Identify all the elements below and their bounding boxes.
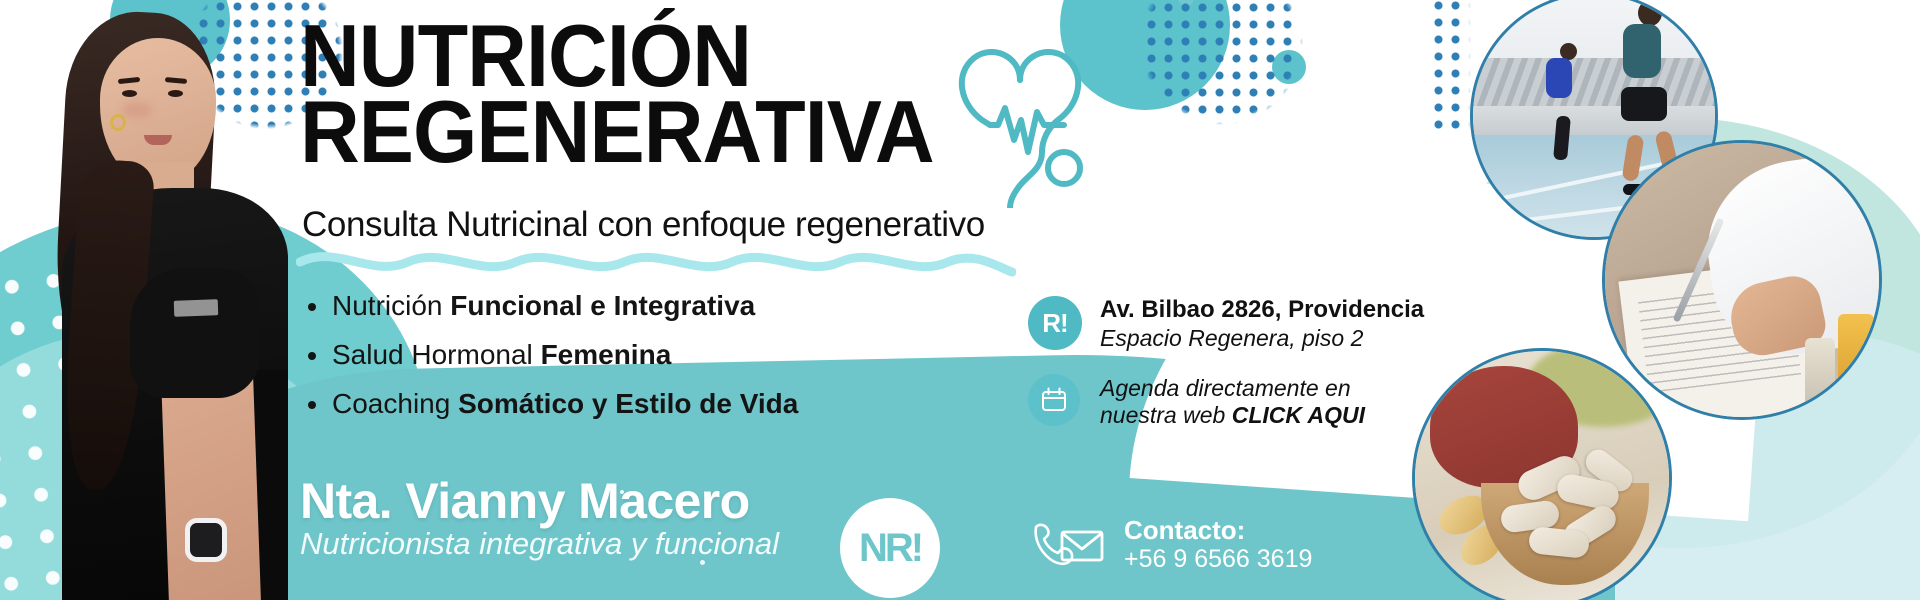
practitioner-name: Nta. Vianny Macero (300, 472, 779, 530)
headline-subtitle: Consulta Nutricinal con enfoque regenera… (302, 205, 985, 245)
booking-line-2[interactable]: nuestra web CLICK AQUI (1100, 402, 1365, 429)
pin-label: R! (1028, 296, 1082, 350)
service-bold-text: Somático y Estilo de Vida (458, 388, 798, 419)
click-here-link[interactable]: CLICK AQUI (1232, 402, 1365, 428)
booking-plain: nuestra web (1100, 402, 1232, 428)
service-plain-text: Nutrición (332, 290, 450, 321)
calendar-icon (1028, 374, 1084, 430)
contact-label: Contacto: (1124, 516, 1312, 545)
wavy-underline-decor (296, 246, 1016, 280)
list-item: Nutrición Funcional e Integrativa (300, 290, 920, 322)
logo-mark: NR! (859, 526, 921, 571)
heart-stethoscope-icon (930, 28, 1110, 208)
nutritionist-portrait (18, 10, 288, 600)
page-title: NUTRICIÓN REGENERATIVA (300, 18, 977, 169)
headline-line-2: REGENERATIVA (300, 94, 977, 170)
service-bold-text: Funcional e Integrativa (450, 290, 755, 321)
portrait-smartwatch (185, 518, 227, 562)
photo-supplement-capsules (1412, 348, 1672, 600)
halftone-dots-right-icon (1126, 0, 1316, 138)
portrait-cheek (122, 102, 152, 118)
service-plain-text: Salud Hormonal (332, 339, 541, 370)
address-line-2: Espacio Regenera, piso 2 (1100, 325, 1424, 352)
portrait-eye (122, 90, 137, 97)
portrait-eye (168, 90, 183, 97)
list-item: Salud Hormonal Femenina (300, 339, 920, 371)
service-bold-text: Femenina (541, 339, 672, 370)
address-line-1: Av. Bilbao 2826, Providencia (1100, 296, 1424, 324)
portrait-earring (110, 114, 126, 131)
footer-contact: Contacto: +56 9 6566 3619 (1030, 516, 1312, 573)
service-plain-text: Coaching (332, 388, 458, 419)
list-item: Coaching Somático y Estilo de Vida (300, 388, 920, 420)
portrait-name-badge (174, 299, 219, 317)
practitioner-name-block: Nta. Vianny Macero Nutricionista integra… (300, 472, 779, 562)
location-pin-icon: R! (1028, 296, 1084, 352)
contact-phone[interactable]: +56 9 6566 3619 (1124, 545, 1312, 573)
portrait-sleeve (130, 268, 260, 398)
booking-line-1: Agenda directamente en (1100, 375, 1365, 402)
brand-logo-badge: NR! (840, 498, 940, 598)
address-row: R! Av. Bilbao 2826, Providencia Espacio … (1028, 296, 1488, 352)
promotional-banner: NUTRICIÓN REGENERATIVA Consulta Nutricin… (0, 0, 1920, 600)
practitioner-role: Nutricionista integrativa y funcional (300, 526, 779, 562)
phone-envelope-icon (1030, 519, 1106, 571)
services-list: Nutrición Funcional e Integrativa Salud … (300, 290, 920, 437)
